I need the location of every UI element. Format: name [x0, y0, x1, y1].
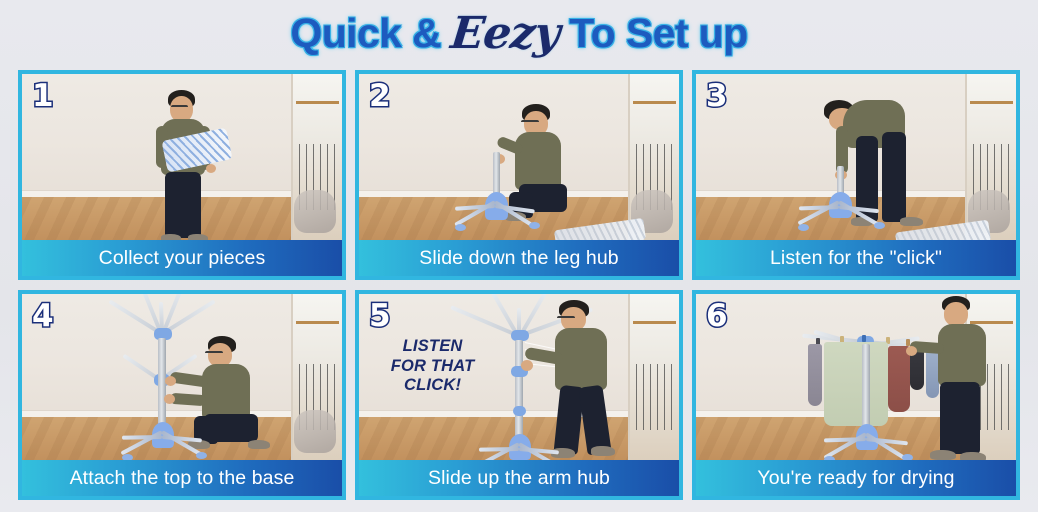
step-caption: Slide down the leg hub — [359, 240, 679, 276]
step-number-badge: 1 — [32, 81, 54, 112]
page-title: Quick & Eezy To Set up — [0, 0, 1038, 66]
shoe-back — [248, 440, 270, 449]
glasses-icon — [557, 316, 575, 320]
base-foot — [529, 222, 540, 229]
torso — [515, 132, 561, 190]
step-caption: Listen for the "click" — [696, 240, 1016, 276]
garment-towel — [824, 342, 888, 426]
step-photo-6: 6 — [696, 294, 1016, 460]
hand-upper — [165, 376, 176, 386]
glasses-icon — [205, 351, 223, 355]
head — [944, 302, 968, 326]
step-caption: Slide up the arm hub — [359, 460, 679, 496]
torso — [555, 328, 607, 390]
garment-shirt-maroon — [888, 346, 910, 412]
step-photo-1: 1 — [22, 74, 342, 240]
shoe-right — [591, 446, 615, 456]
step-number-badge: 3 — [706, 81, 728, 112]
background-object — [294, 190, 336, 233]
base-leg-4 — [479, 447, 519, 452]
legs — [940, 382, 980, 454]
base-foot — [196, 452, 207, 459]
step-number-badge: 6 — [706, 301, 728, 332]
hand — [521, 360, 533, 371]
legs — [165, 172, 201, 238]
step-panel-2[interactable]: 2 Slide down the leg hub — [355, 70, 683, 280]
step-photo-2: 2 — [359, 74, 679, 240]
shoe-left — [930, 450, 956, 460]
hand — [906, 346, 917, 356]
base-foot — [798, 224, 809, 231]
step-caption: You're ready for drying — [696, 460, 1016, 496]
step-photo-3: 3 — [696, 74, 1016, 240]
pole-collar — [513, 406, 526, 416]
base-leg-4 — [122, 435, 162, 440]
glasses-icon — [171, 105, 188, 109]
step-number-badge: 4 — [32, 301, 54, 332]
clothes-peg — [862, 335, 866, 342]
title-brand-script: Eezy — [448, 8, 561, 59]
step-panel-6[interactable]: 6 You're ready for drying — [692, 290, 1020, 500]
shoe-right — [960, 452, 986, 460]
step-number-badge: 5 — [369, 301, 391, 332]
hand-right — [206, 164, 216, 173]
base-foot — [874, 222, 885, 229]
torso — [202, 364, 250, 420]
step-photo-4: 4 — [22, 294, 342, 460]
hand-lower — [164, 394, 175, 404]
step-panel-1[interactable]: 1 Collect your pieces — [18, 70, 346, 280]
shoe-back — [900, 217, 923, 226]
title-part-two: To Set up — [569, 10, 747, 57]
base-foot — [455, 224, 466, 231]
step-panel-5[interactable]: LISTEN FOR THAT CLICK! 5 Slide up the ar… — [355, 290, 683, 500]
garment-sock-grey — [808, 344, 822, 406]
step-photo-5: LISTEN FOR THAT CLICK! 5 — [359, 294, 679, 460]
step-caption: Collect your pieces — [22, 240, 342, 276]
leg-back — [882, 132, 906, 222]
title-part-one: Quick & — [290, 10, 441, 57]
torso — [938, 324, 986, 386]
glasses-icon — [521, 120, 539, 124]
center-pole — [515, 340, 523, 448]
step-number-badge: 2 — [369, 81, 391, 112]
window — [628, 294, 679, 460]
overlay-callout-text: LISTEN FOR THAT CLICK! — [378, 337, 487, 395]
step-panel-4[interactable]: 4 Attach the top to the base — [18, 290, 346, 500]
steps-grid: 1 Collect your pieces — [18, 70, 1020, 500]
step-panel-3[interactable]: 3 Listen for the "click" — [692, 70, 1020, 280]
background-object — [294, 410, 336, 453]
step-caption: Attach the top to the base — [22, 460, 342, 496]
